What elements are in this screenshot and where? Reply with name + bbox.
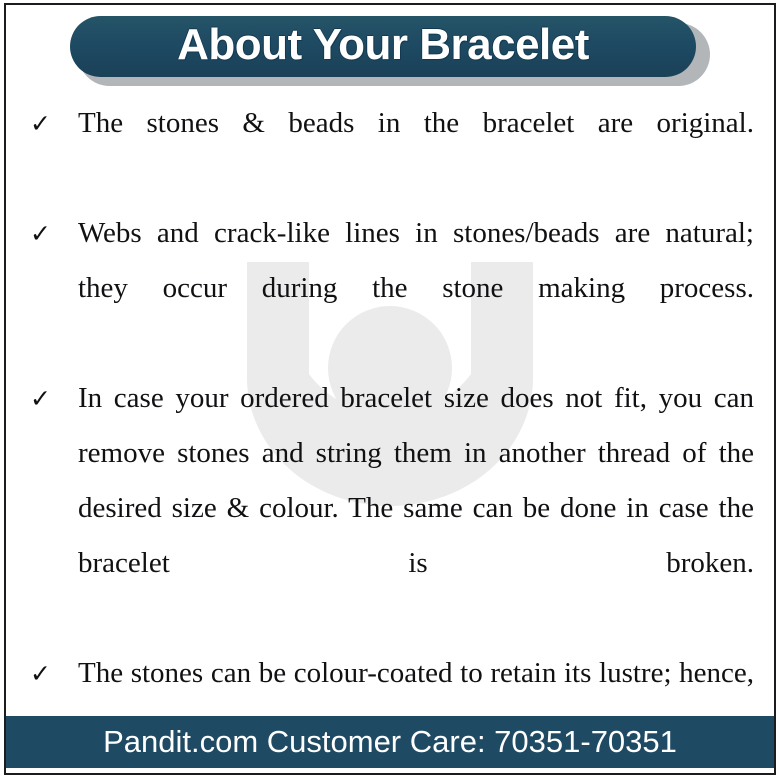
page-title: About Your Bracelet bbox=[177, 23, 589, 67]
check-icon: ✓ bbox=[24, 371, 78, 426]
about-your-bracelet-card: About Your Bracelet ✓ The stones & beads… bbox=[0, 0, 780, 780]
customer-care-text: Pandit.com Customer Care: 70351-70351 bbox=[103, 726, 677, 757]
check-icon: ✓ bbox=[24, 206, 78, 261]
check-icon: ✓ bbox=[24, 96, 78, 151]
bullet-list: ✓ The stones & beads in the bracelet are… bbox=[24, 96, 756, 780]
list-item-text: The stones & beads in the bracelet are o… bbox=[78, 96, 756, 206]
list-item: ✓ The stones & beads in the bracelet are… bbox=[24, 96, 756, 206]
footer-bar: Pandit.com Customer Care: 70351-70351 bbox=[6, 716, 774, 768]
list-item-text: Webs and crack-like lines in stones/bead… bbox=[78, 206, 756, 371]
check-icon: ✓ bbox=[24, 646, 78, 701]
list-item: ✓ In case your ordered bracelet size doe… bbox=[24, 371, 756, 646]
list-item-text: In case your ordered bracelet size does … bbox=[78, 371, 756, 646]
header-banner: About Your Bracelet bbox=[70, 16, 710, 86]
list-item: ✓ Webs and crack-like lines in stones/be… bbox=[24, 206, 756, 371]
header-banner-pill: About Your Bracelet bbox=[70, 16, 696, 77]
